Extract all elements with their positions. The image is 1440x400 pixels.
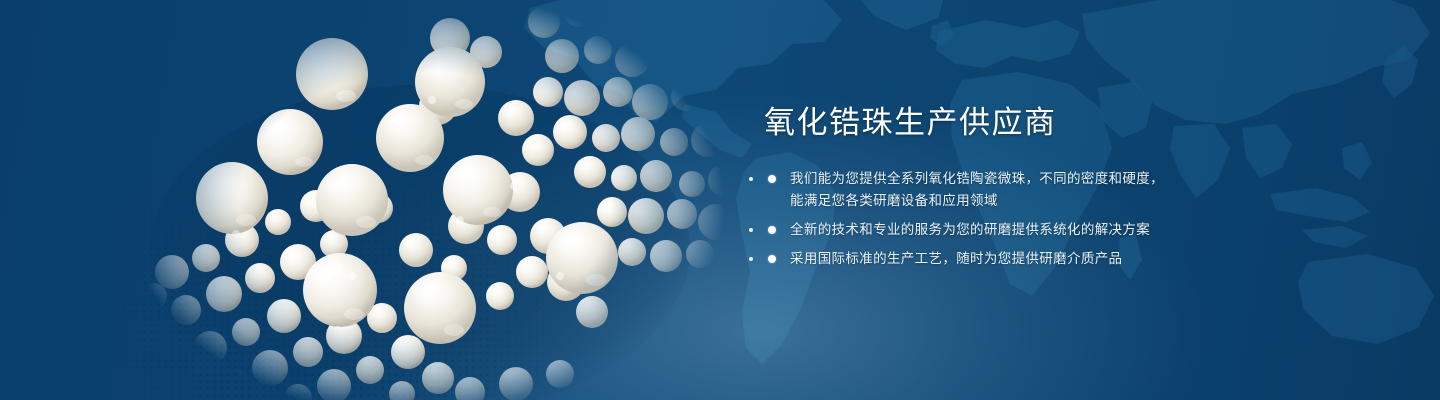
bullet-dot-icon [768, 175, 776, 183]
feature-text: 我们能为您提供全系列氧化锆陶瓷微珠，不同的密度和硬度， 能满足您各类研磨设备和应… [790, 168, 1324, 212]
feature-line-1: 采用国际标准的生产工艺，随时为您提供研磨介质产品 [790, 251, 1122, 266]
list-item: 我们能为您提供全系列氧化锆陶瓷微珠，不同的密度和硬度， 能满足您各类研磨设备和应… [764, 168, 1324, 212]
list-item: 全新的技术和专业的服务为您的研磨提供系统化的解决方案 [764, 219, 1324, 241]
feature-line-1: 全新的技术和专业的服务为您的研磨提供系统化的解决方案 [790, 222, 1150, 237]
feature-text: 全新的技术和专业的服务为您的研磨提供系统化的解决方案 [790, 219, 1324, 241]
feature-line-1: 我们能为您提供全系列氧化锆陶瓷微珠，不同的密度和硬度， [790, 171, 1164, 186]
feature-list: 我们能为您提供全系列氧化锆陶瓷微珠，不同的密度和硬度， 能满足您各类研磨设备和应… [764, 168, 1324, 270]
list-item: 采用国际标准的生产工艺，随时为您提供研磨介质产品 [764, 248, 1324, 270]
bullet-dot-icon [768, 226, 776, 234]
bullet-dot-icon [768, 255, 776, 263]
hero-banner: 氧化锆珠生产供应商 我们能为您提供全系列氧化锆陶瓷微珠，不同的密度和硬度， 能满… [0, 0, 1440, 400]
feature-line-2: 能满足您各类研磨设备和应用领域 [790, 190, 1324, 212]
feature-text: 采用国际标准的生产工艺，随时为您提供研磨介质产品 [790, 248, 1324, 270]
banner-copy: 氧化锆珠生产供应商 我们能为您提供全系列氧化锆陶瓷微珠，不同的密度和硬度， 能满… [764, 104, 1324, 270]
halftone-texture [120, 0, 740, 400]
page-title: 氧化锆珠生产供应商 [764, 104, 1324, 142]
zirconia-beads-photo [120, 0, 760, 400]
